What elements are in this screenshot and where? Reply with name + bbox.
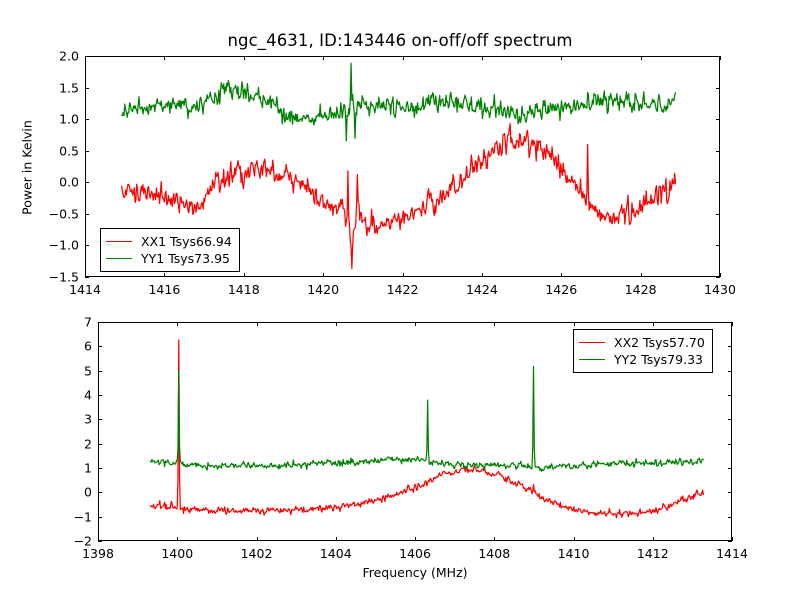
legend-label-xx2: XX2 Tsys57.70: [614, 335, 705, 350]
x-tick-mark: [177, 537, 178, 541]
y-tick-label: −2: [50, 534, 92, 549]
x-tick-label: 1414: [716, 546, 748, 561]
y-tick-mark: [98, 346, 102, 347]
y-tick-label: 0.0: [37, 175, 79, 190]
x-tick-mark: [257, 537, 258, 541]
line-swatch-xx1: [106, 241, 132, 242]
y-tick-mark: [85, 119, 89, 120]
y-tick-mark: [98, 444, 102, 445]
y-tick-mark: [98, 517, 102, 518]
y-tick-mark: [728, 395, 732, 396]
x-tick-mark: [732, 537, 733, 541]
x-tick-mark: [720, 273, 721, 277]
y-tick-label: 0: [50, 485, 92, 500]
x-tick-label: 1402: [241, 546, 273, 561]
x-tick-label: 1412: [637, 546, 669, 561]
x-tick-label: 1416: [148, 282, 180, 297]
x-tick-label: 1422: [387, 282, 419, 297]
spectrum-figure: ngc_4631, ID:143446 on-off/off spectrum …: [0, 0, 800, 600]
x-tick-label: 1430: [704, 282, 736, 297]
legend-item: XX1 Tsys66.94: [106, 233, 232, 250]
x-tick-mark: [732, 322, 733, 326]
y-tick-mark: [716, 88, 720, 89]
x-tick-label: 1408: [478, 546, 510, 561]
y-tick-mark: [85, 56, 89, 57]
x-tick-mark: [641, 273, 642, 277]
x-tick-mark: [177, 322, 178, 326]
y-tick-mark: [728, 492, 732, 493]
y-tick-label: 7: [50, 315, 92, 330]
x-tick-mark: [482, 273, 483, 277]
series-line-yy2: [150, 366, 703, 471]
line-swatch-yy2: [579, 359, 605, 360]
y-tick-mark: [728, 322, 732, 323]
x-tick-mark: [415, 322, 416, 326]
series-line-yy1: [122, 63, 676, 141]
y-tick-mark: [728, 468, 732, 469]
y-tick-mark: [98, 468, 102, 469]
y-tick-mark: [728, 371, 732, 372]
x-tick-label: 1428: [625, 282, 657, 297]
y-axis-label-top: Power in Kelvin: [20, 88, 35, 248]
y-tick-label: 4: [50, 388, 92, 403]
x-tick-mark: [415, 537, 416, 541]
y-tick-mark: [728, 444, 732, 445]
x-tick-mark: [336, 537, 337, 541]
y-tick-mark: [716, 151, 720, 152]
x-tick-mark: [574, 322, 575, 326]
y-tick-mark: [85, 214, 89, 215]
line-swatch-yy1: [106, 258, 132, 259]
x-tick-label: 1418: [228, 282, 260, 297]
y-tick-mark: [98, 541, 102, 542]
y-tick-mark: [85, 277, 89, 278]
y-tick-mark: [98, 371, 102, 372]
x-tick-label: 1400: [161, 546, 193, 561]
y-tick-mark: [85, 182, 89, 183]
x-tick-mark: [720, 56, 721, 60]
x-tick-mark: [164, 273, 165, 277]
legend-item: YY1 Tsys73.95: [106, 250, 232, 267]
x-tick-mark: [257, 322, 258, 326]
x-tick-label: 1404: [320, 546, 352, 561]
y-tick-label: 0.5: [37, 143, 79, 158]
y-tick-mark: [98, 395, 102, 396]
y-tick-label: 3: [50, 412, 92, 427]
y-tick-mark: [98, 492, 102, 493]
x-tick-label: 1406: [399, 546, 431, 561]
x-tick-mark: [164, 56, 165, 60]
y-tick-label: −0.5: [37, 206, 79, 221]
y-tick-label: 6: [50, 339, 92, 354]
x-tick-mark: [323, 273, 324, 277]
y-tick-mark: [98, 322, 102, 323]
x-tick-mark: [244, 56, 245, 60]
x-tick-mark: [561, 273, 562, 277]
y-tick-label: 1.0: [37, 112, 79, 127]
x-tick-mark: [403, 56, 404, 60]
bottom-panel-legend: XX2 Tsys57.70 YY2 Tsys79.33: [573, 329, 713, 373]
legend-label-yy2: YY2 Tsys79.33: [614, 352, 703, 367]
x-tick-mark: [494, 537, 495, 541]
y-tick-label: −1: [50, 509, 92, 524]
y-tick-mark: [728, 419, 732, 420]
y-tick-label: 1: [50, 461, 92, 476]
y-tick-mark: [716, 277, 720, 278]
y-tick-mark: [716, 56, 720, 57]
x-axis-label-bottom: Frequency (MHz): [98, 565, 732, 580]
x-tick-label: 1426: [545, 282, 577, 297]
legend-label-yy1: YY1 Tsys73.95: [141, 251, 230, 266]
legend-item: XX2 Tsys57.70: [579, 334, 705, 351]
y-tick-label: 1.5: [37, 80, 79, 95]
x-tick-mark: [482, 56, 483, 60]
x-tick-label: 1420: [307, 282, 339, 297]
y-tick-label: 2: [50, 436, 92, 451]
line-swatch-xx2: [579, 342, 605, 343]
y-tick-mark: [728, 517, 732, 518]
x-tick-mark: [403, 273, 404, 277]
x-tick-mark: [653, 322, 654, 326]
x-tick-mark: [561, 56, 562, 60]
y-tick-label: −1.5: [37, 270, 79, 285]
top-panel-legend: XX1 Tsys66.94 YY1 Tsys73.95: [100, 228, 240, 272]
y-tick-mark: [85, 88, 89, 89]
y-tick-label: −1.0: [37, 238, 79, 253]
y-tick-mark: [728, 541, 732, 542]
y-tick-mark: [98, 419, 102, 420]
y-tick-label: 2.0: [37, 49, 79, 64]
y-tick-mark: [716, 214, 720, 215]
legend-item: YY2 Tsys79.33: [579, 351, 705, 368]
y-tick-label: 5: [50, 363, 92, 378]
y-tick-mark: [85, 151, 89, 152]
x-tick-mark: [244, 273, 245, 277]
x-tick-mark: [641, 56, 642, 60]
x-tick-label: 1410: [558, 546, 590, 561]
x-tick-mark: [323, 56, 324, 60]
legend-label-xx1: XX1 Tsys66.94: [141, 234, 232, 249]
y-tick-mark: [716, 119, 720, 120]
y-tick-mark: [716, 245, 720, 246]
x-tick-mark: [653, 537, 654, 541]
x-tick-label: 1424: [466, 282, 498, 297]
figure-title: ngc_4631, ID:143446 on-off/off spectrum: [0, 31, 800, 50]
y-tick-mark: [85, 245, 89, 246]
x-tick-mark: [336, 322, 337, 326]
x-tick-mark: [494, 322, 495, 326]
x-tick-mark: [574, 537, 575, 541]
y-tick-mark: [716, 182, 720, 183]
y-tick-mark: [728, 346, 732, 347]
